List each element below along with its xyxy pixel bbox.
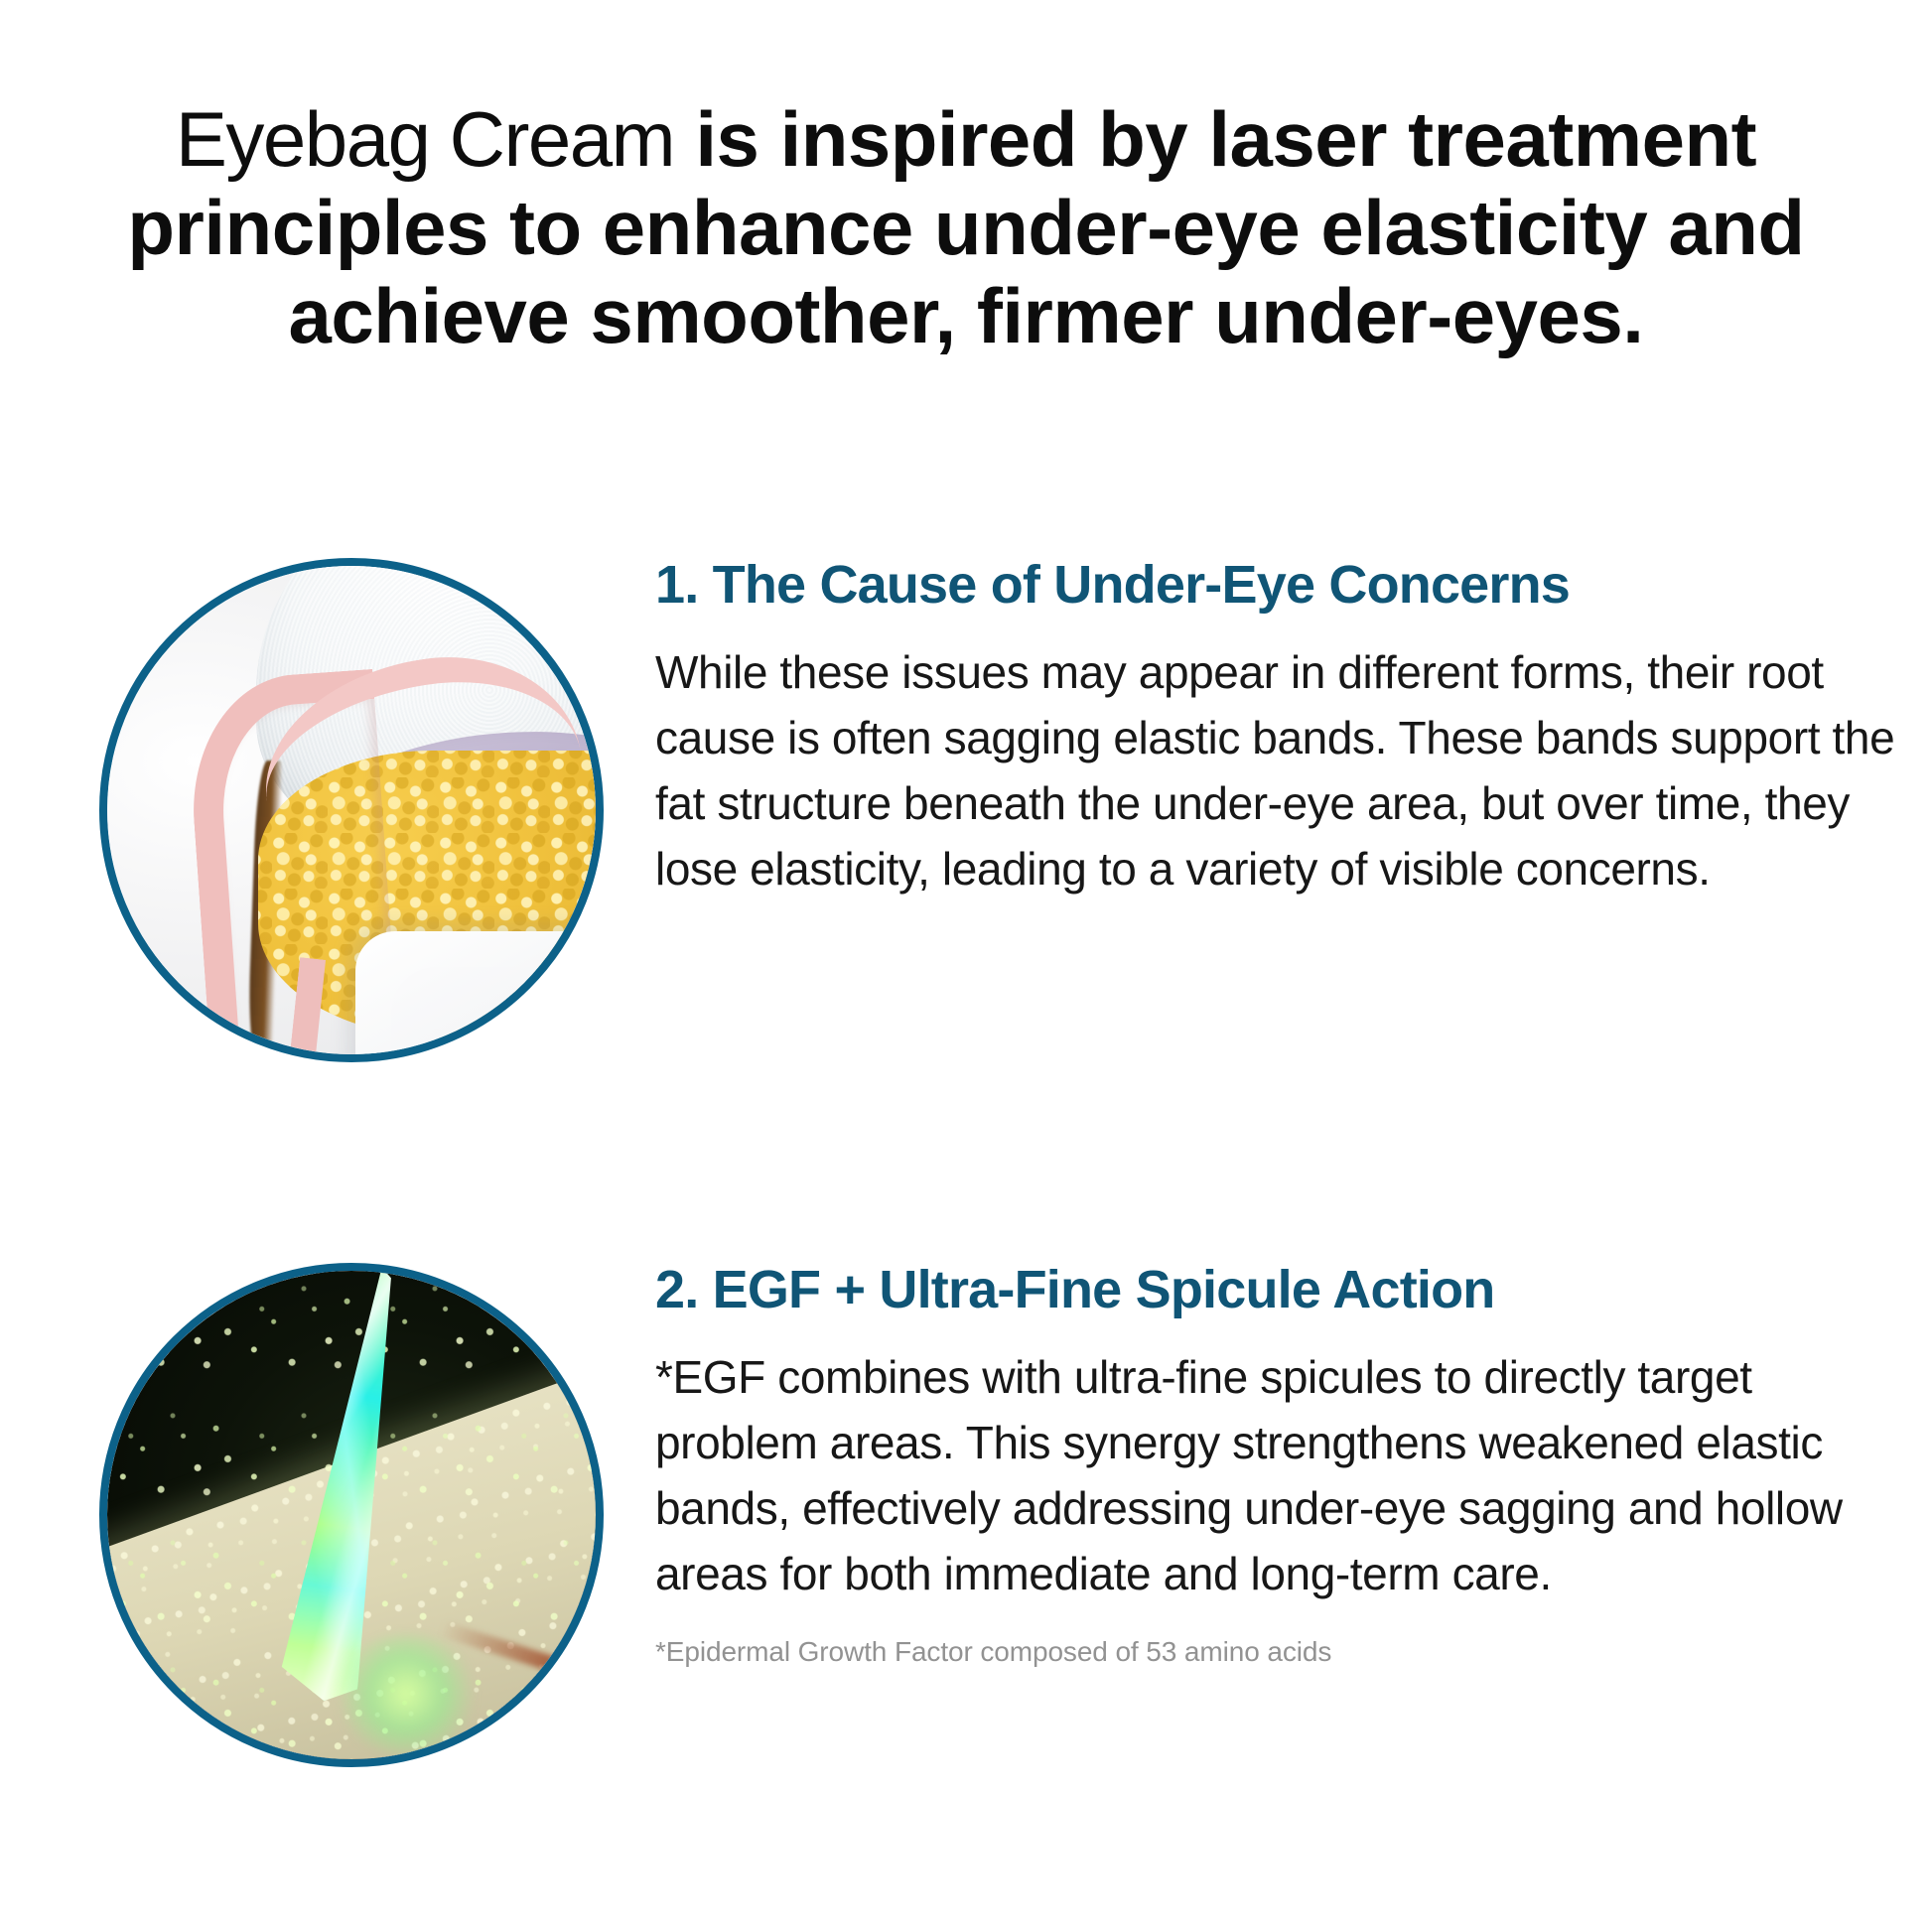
section-1-heading: 1. The Cause of Under-Eye Concerns bbox=[655, 556, 1896, 615]
glowing-spicule-piercing-skin-illustration bbox=[107, 1271, 596, 1759]
section-2-text-column: 2. EGF + Ultra-Fine Spicule Action *EGF … bbox=[655, 1261, 1896, 1668]
page-headline: Eyebag Cream is inspired by laser treatm… bbox=[0, 95, 1932, 360]
section-cause-of-under-eye-concerns: 1. The Cause of Under-Eye Concerns While… bbox=[0, 556, 1932, 1072]
brand-name: Eyebag Cream bbox=[176, 95, 674, 183]
section-1-text-column: 1. The Cause of Under-Eye Concerns While… bbox=[655, 556, 1896, 901]
anatomy-backdrop bbox=[107, 566, 596, 1054]
section-2-paragraph: *EGF combines with ultra-fine spicules t… bbox=[655, 1345, 1896, 1606]
impact-glow-highlight bbox=[332, 1634, 481, 1753]
section-2-heading: 2. EGF + Ultra-Fine Spicule Action bbox=[655, 1261, 1896, 1319]
egf-footnote: *Epidermal Growth Factor composed of 53 … bbox=[655, 1636, 1896, 1668]
infographic-page: Eyebag Cream is inspired by laser treatm… bbox=[0, 0, 1932, 1932]
section-2-image-circle bbox=[99, 1263, 604, 1767]
section-egf-ultra-fine-spicule-action: 2. EGF + Ultra-Fine Spicule Action *EGF … bbox=[0, 1261, 1932, 1777]
bone-plate-inner-shape bbox=[391, 967, 596, 1054]
under-eye-anatomy-cross-section-illustration bbox=[107, 566, 596, 1054]
section-1-image-circle bbox=[99, 558, 604, 1062]
section-1-paragraph: While these issues may appear in differe… bbox=[655, 640, 1896, 901]
spicule-backdrop bbox=[107, 1271, 596, 1759]
